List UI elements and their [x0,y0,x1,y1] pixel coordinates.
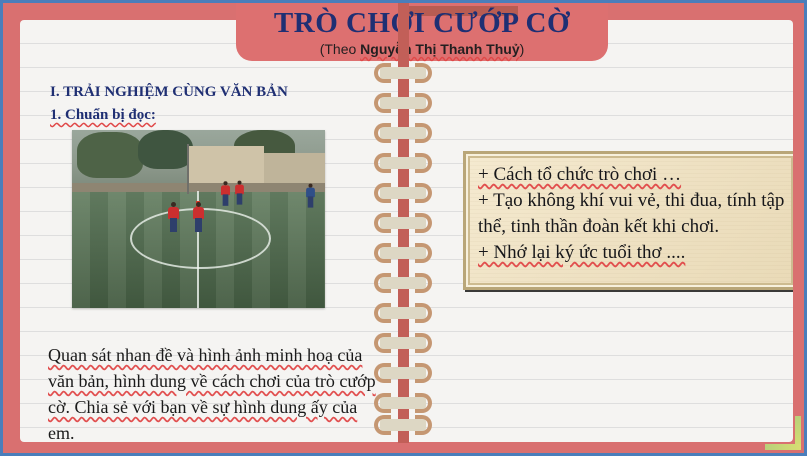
spiral-ring-icon [374,183,432,203]
photo-player [168,207,179,233]
spiral-ring-icon [374,393,432,413]
photo-player [221,186,230,207]
answer-line-3: + Nhớ lại ký ức tuổi thơ .... [478,240,785,266]
spiral-ring-icon [374,303,432,323]
photo-player [193,207,204,233]
spiral-ring-icon [374,63,432,83]
answer-line-2: + Tạo không khí vui vẻ, thi đua, tính tậ… [478,188,785,240]
spiral-ring-icon [374,363,432,383]
photo-building-far [264,153,325,185]
photo-tree-left-icon [77,132,143,178]
photo-tree-mid-icon [138,130,194,169]
photo-pole [187,144,189,194]
spiral-ring-icon [374,333,432,353]
prompt-paragraph: Quan sát nhan đề và hình ảnh minh hoạ củ… [48,342,378,442]
spiral-ring-icon [374,93,432,113]
spiral-ring-icon [374,415,432,435]
illustration-photo [72,130,325,308]
answer-box: + Cách tổ chức trò chơi … + Tạo không kh… [463,151,793,290]
accent-edge-horizontal [765,444,801,450]
answer-line-1: + Cách tổ chức trò chơi … [478,162,785,188]
spiral-ring-icon [374,213,432,233]
photo-player [235,184,244,205]
photo-player [306,188,315,209]
subsection-heading: 1. Chuẩn bị đọc: [50,107,156,124]
attribution-suffix: ) [520,41,525,57]
attribution-prefix: (Theo [320,41,360,57]
spiral-ring-icon [374,123,432,143]
spiral-ring-icon [374,273,432,293]
slide: I. TRẢI NGHIỆM CÙNG VĂN BẢN 1. Chuẩn bị … [0,0,807,456]
section-heading: I. TRẢI NGHIỆM CÙNG VĂN BẢN [50,84,288,101]
spiral-ring-icon [374,153,432,173]
spiral-ring-icon [374,243,432,263]
spiral-binding [368,3,438,456]
